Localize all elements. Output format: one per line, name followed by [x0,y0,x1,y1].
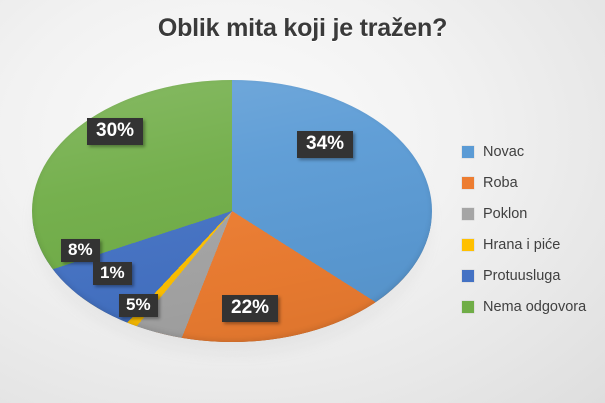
data-label-protuusluga: 8% [61,239,100,262]
legend-item-roba[interactable]: Roba [462,167,602,198]
legend-item-protuusluga[interactable]: Protuusluga [462,260,602,291]
legend-swatch-icon [462,146,474,158]
pie-chart-figure: Oblik mita koji je tražen? 34% 22% 30% 8… [0,0,605,403]
chart-title: Oblik mita koji je tražen? [0,14,605,43]
pie-plot-area [22,56,442,381]
data-label-roba: 22% [222,295,278,322]
legend-swatch-icon [462,177,474,189]
chart-legend: Novac Roba Poklon Hrana i piće Protuuslu… [462,136,602,322]
legend-swatch-icon [462,208,474,220]
legend-item-novac[interactable]: Novac [462,136,602,167]
legend-item-poklon[interactable]: Poklon [462,198,602,229]
data-label-novac: 34% [297,131,353,158]
legend-label: Hrana i piće [483,237,560,253]
legend-label: Nema odgovora [483,299,586,315]
data-label-hrana-i-pice: 1% [93,262,132,285]
legend-label: Roba [483,175,518,191]
data-label-poklon: 5% [119,294,158,317]
legend-swatch-icon [462,301,474,313]
legend-label: Poklon [483,206,527,222]
legend-swatch-icon [462,239,474,251]
legend-label: Protuusluga [483,268,560,284]
legend-swatch-icon [462,270,474,282]
legend-item-nema-odgovora[interactable]: Nema odgovora [462,291,602,322]
data-label-nema-odgovora: 30% [87,118,143,145]
legend-label: Novac [483,144,524,160]
legend-item-hrana-i-pice[interactable]: Hrana i piće [462,229,602,260]
